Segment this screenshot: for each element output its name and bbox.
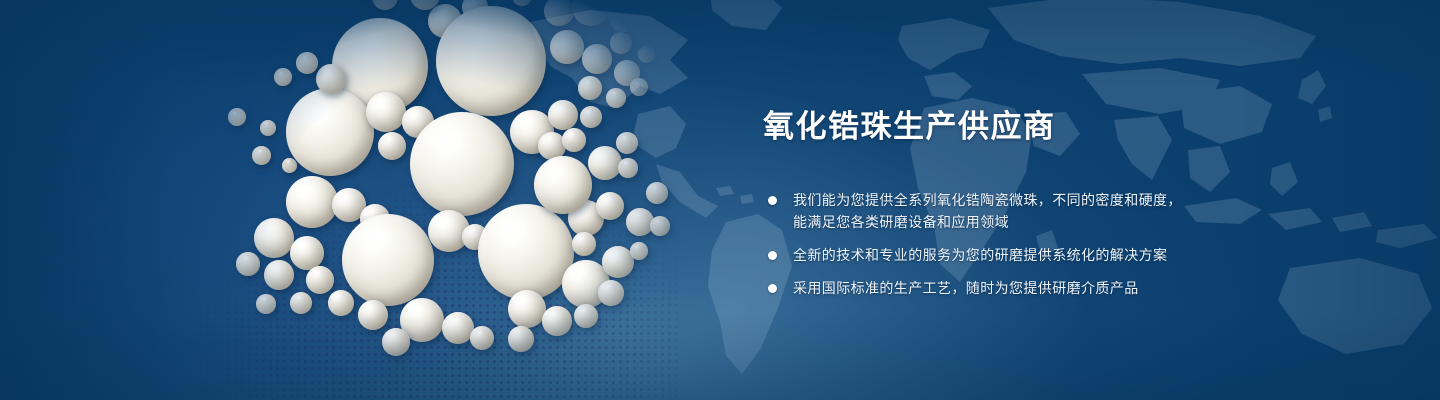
hero-banner: 氧化锆珠生产供应商 我们能为您提供全系列氧化锆陶瓷微珠，不同的密度和硬度， 能满…	[0, 0, 1440, 400]
list-item-line: 全新的技术和专业的服务为您的研磨提供系统化的解决方案	[793, 244, 1323, 266]
list-item-line: 能满足您各类研磨设备和应用领域	[793, 211, 1323, 233]
bullet-dot-icon	[768, 196, 777, 205]
list-item-line: 采用国际标准的生产工艺，随时为您提供研磨介质产品	[793, 277, 1323, 299]
bullet-dot-icon	[768, 284, 777, 293]
page-title: 氧化锆珠生产供应商	[763, 108, 1323, 145]
list-item: 我们能为您提供全系列氧化锆陶瓷微珠，不同的密度和硬度， 能满足您各类研磨设备和应…	[763, 189, 1323, 233]
list-item: 采用国际标准的生产工艺，随时为您提供研磨介质产品	[763, 277, 1323, 299]
list-item-line: 我们能为您提供全系列氧化锆陶瓷微珠，不同的密度和硬度，	[793, 189, 1323, 211]
bullet-dot-icon	[768, 251, 777, 260]
feature-list: 我们能为您提供全系列氧化锆陶瓷微珠，不同的密度和硬度， 能满足您各类研磨设备和应…	[763, 189, 1323, 299]
banner-copy: 氧化锆珠生产供应商 我们能为您提供全系列氧化锆陶瓷微珠，不同的密度和硬度， 能满…	[763, 108, 1323, 299]
list-item: 全新的技术和专业的服务为您的研磨提供系统化的解决方案	[763, 244, 1323, 266]
